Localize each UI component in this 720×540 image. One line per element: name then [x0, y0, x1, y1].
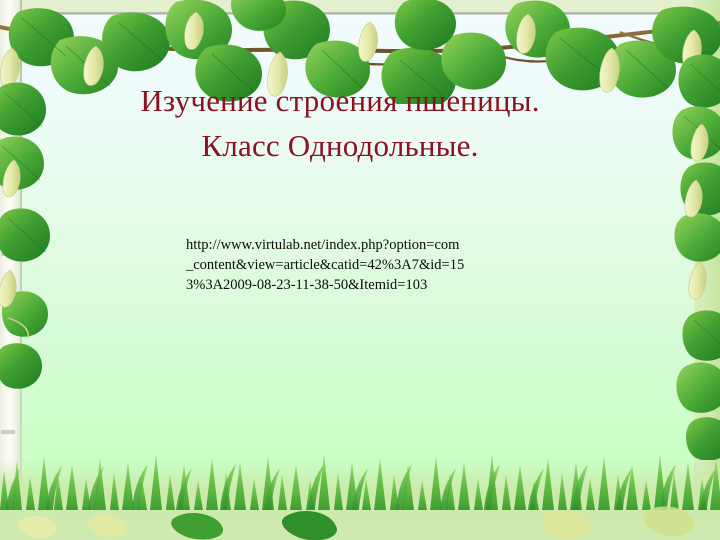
leaf-icon-group-bottom: [0, 496, 720, 540]
source-url-line-2: _content&view=article&catid=42%3A7&id=15: [186, 255, 556, 275]
source-url-line-3: 3%3A2009-08-23-11-38-50&Itemid=103: [186, 275, 556, 295]
page-title: Изучение строения пшеницы. Класс Однодол…: [40, 78, 640, 168]
presentation-slide: Изучение строения пшеницы. Класс Однодол…: [0, 0, 720, 540]
page-title-line-2: Класс Однодольные.: [40, 123, 640, 168]
leaf-icon-group-left: [0, 0, 86, 400]
leaf-icon-group-right: [624, 0, 720, 460]
source-url-line-1: http://www.virtulab.net/index.php?option…: [186, 235, 556, 255]
source-url-text[interactable]: http://www.virtulab.net/index.php?option…: [186, 235, 556, 295]
page-title-line-1: Изучение строения пшеницы.: [40, 78, 640, 123]
